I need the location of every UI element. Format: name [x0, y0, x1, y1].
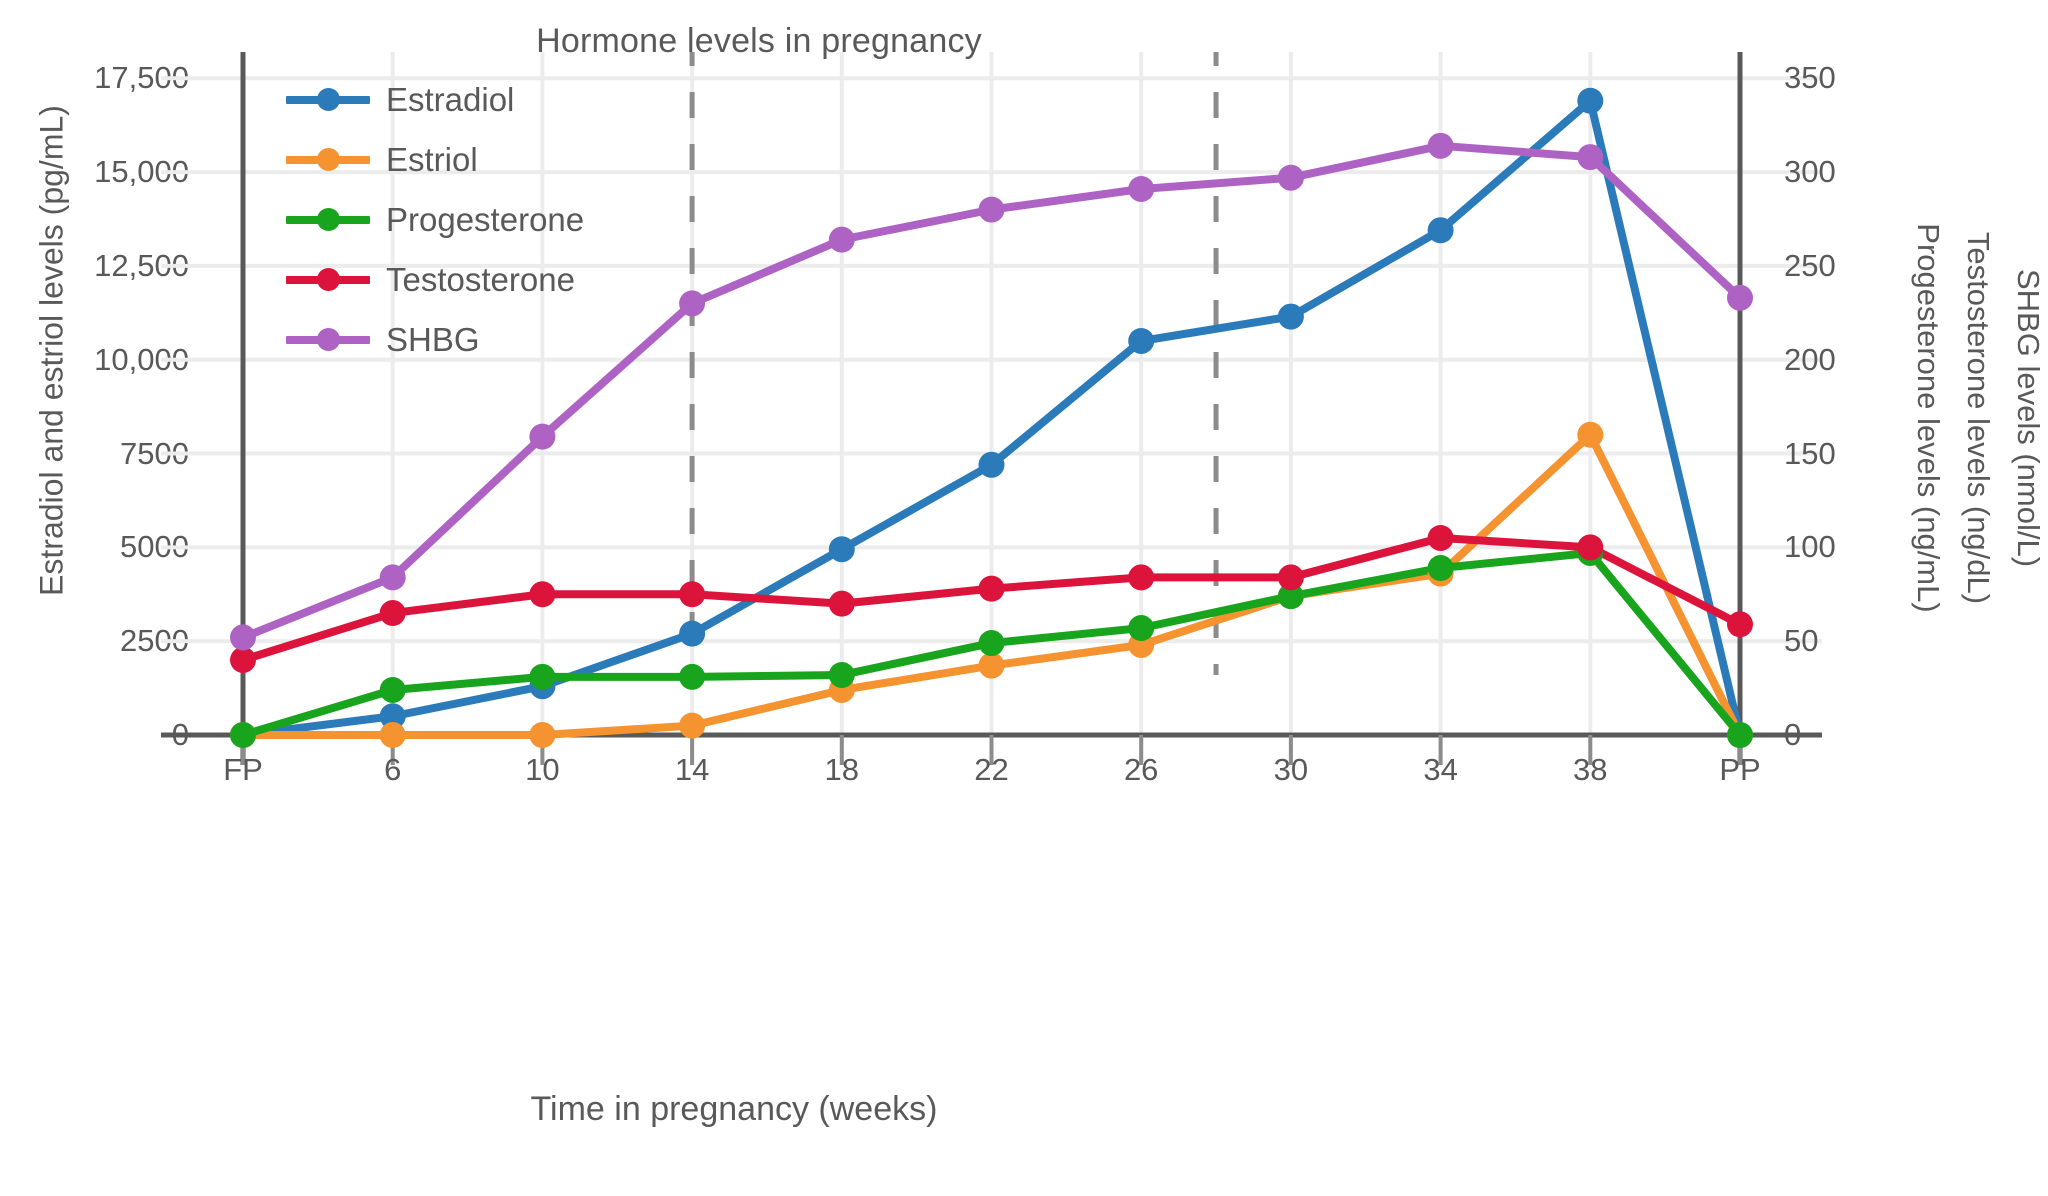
x-axis-tick: 18 — [825, 752, 859, 788]
y-axis-right-label-line-1: Progesterone levels (ng/mL) — [1910, 108, 1946, 728]
data-point-testosterone — [1128, 564, 1154, 590]
y-axis-right-tick: 300 — [1784, 154, 1836, 190]
data-point-testosterone — [529, 581, 555, 607]
x-axis-tick: PP — [1719, 752, 1760, 788]
legend-item-estradiol[interactable]: Estradiol — [286, 70, 584, 130]
data-point-progesterone — [1128, 615, 1154, 641]
data-point-estradiol — [1278, 304, 1304, 330]
y-axis-right-label: Progesterone levels (ng/mL) Testosterone… — [1856, 60, 2026, 760]
x-axis-tick: 30 — [1274, 752, 1308, 788]
data-point-progesterone — [979, 630, 1005, 656]
y-axis-right-label-line-3: SHBG levels (nmol/L) — [2010, 108, 2046, 728]
legend-swatch-icon — [286, 148, 370, 172]
data-point-shbg — [529, 424, 555, 450]
y-axis-right-label-line-2: Testosterone levels (ng/dL) — [1960, 108, 1996, 728]
data-point-shbg — [829, 227, 855, 253]
data-point-testosterone — [829, 591, 855, 617]
data-point-estradiol — [829, 536, 855, 562]
data-point-shbg — [380, 564, 406, 590]
data-point-estradiol — [1577, 88, 1603, 114]
legend-item-shbg[interactable]: SHBG — [286, 310, 584, 370]
data-point-progesterone — [829, 662, 855, 688]
x-axis-tick: 38 — [1573, 752, 1607, 788]
data-point-shbg — [230, 624, 256, 650]
data-point-shbg — [1577, 144, 1603, 170]
legend-label: Estradiol — [386, 81, 514, 119]
data-point-progesterone — [529, 664, 555, 690]
data-point-estriol — [1577, 422, 1603, 448]
x-axis-tick: FP — [223, 752, 263, 788]
y-axis-right-tick: 200 — [1784, 342, 1836, 378]
x-axis-label: Time in pregnancy (weeks) — [0, 1090, 1758, 1129]
data-point-progesterone — [1428, 555, 1454, 581]
data-point-estradiol — [1428, 217, 1454, 243]
legend-swatch-icon — [286, 208, 370, 232]
y-axis-right-tick: 150 — [1784, 436, 1836, 472]
data-point-progesterone — [230, 722, 256, 748]
chart-root: Hormone levels in pregnancy 025005000750… — [0, 0, 2048, 1196]
legend-label: SHBG — [386, 321, 480, 359]
data-point-estradiol — [1128, 328, 1154, 354]
data-point-testosterone — [380, 600, 406, 626]
y-axis-right-tick: 100 — [1784, 529, 1836, 565]
data-point-shbg — [679, 290, 705, 316]
data-point-shbg — [1428, 133, 1454, 159]
x-axis-tick: 22 — [974, 752, 1008, 788]
y-axis-right-tick: 50 — [1784, 623, 1818, 659]
data-point-shbg — [979, 197, 1005, 223]
x-axis-tick: 14 — [675, 752, 709, 788]
data-point-testosterone — [1577, 534, 1603, 560]
chart-legend: EstradiolEstriolProgesteroneTestosterone… — [286, 70, 584, 370]
x-axis-tick: 10 — [525, 752, 559, 788]
x-axis-tick: 6 — [384, 752, 401, 788]
data-point-testosterone — [979, 576, 1005, 602]
legend-swatch-icon — [286, 88, 370, 112]
x-axis-ticks: FP61014182226303438PP — [243, 752, 1740, 812]
legend-item-estriol[interactable]: Estriol — [286, 130, 584, 190]
legend-swatch-icon — [286, 268, 370, 292]
x-axis-tick: 26 — [1124, 752, 1158, 788]
data-point-testosterone — [1278, 564, 1304, 590]
legend-label: Progesterone — [386, 201, 584, 239]
legend-label: Testosterone — [386, 261, 575, 299]
data-point-estradiol — [679, 621, 705, 647]
data-point-estriol — [380, 722, 406, 748]
data-point-progesterone — [380, 677, 406, 703]
data-point-testosterone — [1428, 525, 1454, 551]
data-point-estriol — [679, 713, 705, 739]
x-axis-tick: 34 — [1423, 752, 1457, 788]
data-point-estriol — [529, 722, 555, 748]
data-point-estriol — [979, 653, 1005, 679]
y-axis-right-tick: 250 — [1784, 248, 1836, 284]
data-point-shbg — [1128, 176, 1154, 202]
legend-item-progesterone[interactable]: Progesterone — [286, 190, 584, 250]
legend-item-testosterone[interactable]: Testosterone — [286, 250, 584, 310]
legend-label: Estriol — [386, 141, 478, 179]
data-point-progesterone — [679, 664, 705, 690]
data-point-testosterone — [679, 581, 705, 607]
data-point-estradiol — [979, 452, 1005, 478]
legend-swatch-icon — [286, 328, 370, 352]
y-axis-left-label: Estradiol and estriol levels (pg/mL) — [34, 31, 71, 671]
data-point-testosterone — [230, 647, 256, 673]
y-axis-right-tick: 350 — [1784, 60, 1836, 96]
data-point-shbg — [1278, 165, 1304, 191]
y-axis-right-tick: 0 — [1784, 717, 1801, 753]
